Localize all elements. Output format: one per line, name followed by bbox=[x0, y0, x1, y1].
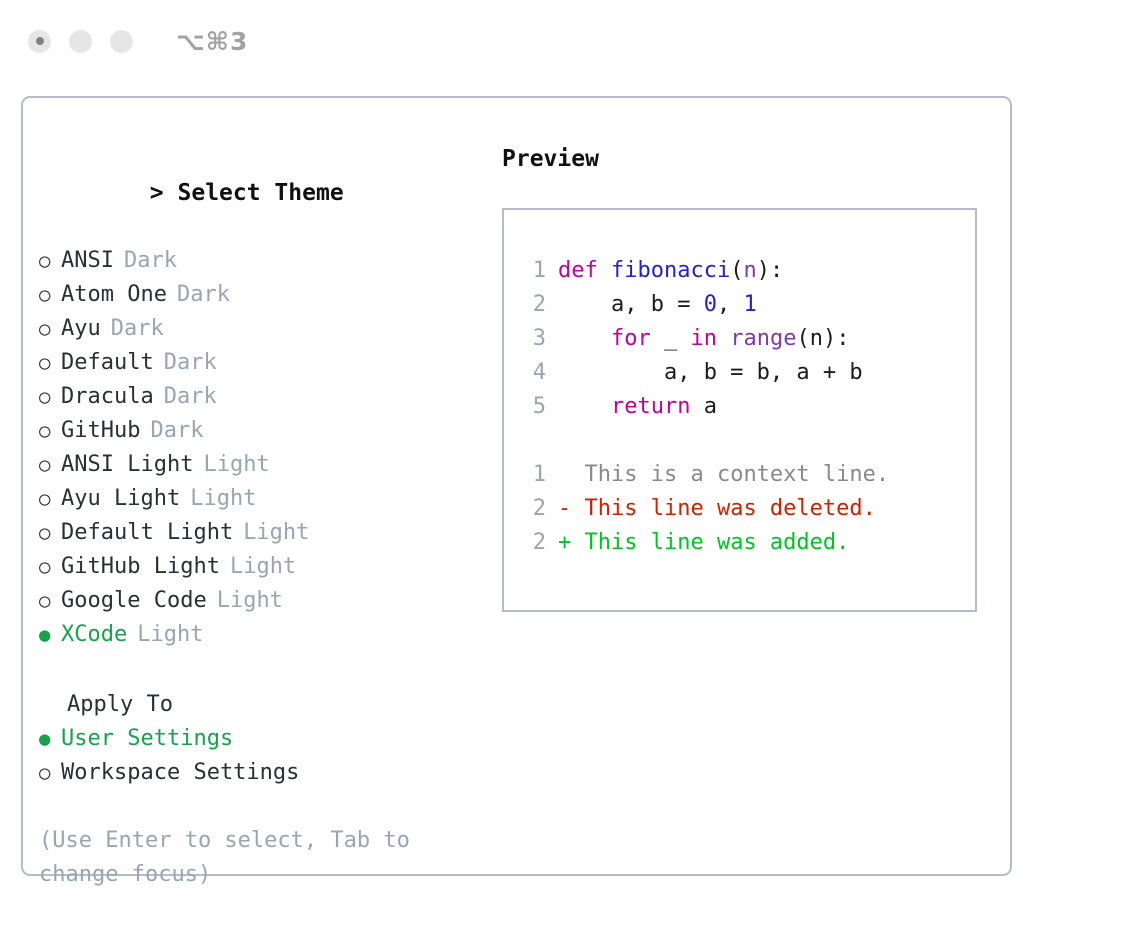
theme-option-dracula[interactable]: ○DraculaDark bbox=[39, 380, 479, 414]
apply-to-option-user-settings[interactable]: ●User Settings bbox=[39, 722, 479, 756]
theme-option-ayu-light[interactable]: ○Ayu LightLight bbox=[39, 482, 479, 516]
theme-option-label: ANSI bbox=[61, 244, 114, 278]
apply-to-option-label: Workspace Settings bbox=[61, 756, 299, 790]
line-number: 4 bbox=[522, 356, 546, 390]
maximize-window-button[interactable] bbox=[110, 30, 133, 53]
apply-to-option-workspace-settings[interactable]: ○Workspace Settings bbox=[39, 756, 479, 790]
radio-unselected-icon: ○ bbox=[39, 516, 61, 550]
radio-unselected-icon: ○ bbox=[39, 244, 61, 278]
line-number: 2 bbox=[522, 526, 546, 560]
theme-option-google-code[interactable]: ○Google CodeLight bbox=[39, 584, 479, 618]
select-theme-heading-label: Select Theme bbox=[178, 180, 344, 206]
preview-column: Preview 1def fibonacci(n):2 a, b = 0, 13… bbox=[502, 142, 992, 612]
code-line: 5 return a bbox=[522, 390, 975, 424]
theme-option-kind: Light bbox=[217, 584, 283, 618]
radio-selected-icon: ● bbox=[39, 618, 61, 652]
theme-option-default-light[interactable]: ○Default LightLight bbox=[39, 516, 479, 550]
theme-option-xcode[interactable]: ●XCodeLight bbox=[39, 618, 479, 652]
radio-unselected-icon: ○ bbox=[39, 346, 61, 380]
keyboard-hint-text: (Use Enter to select, Tab to change focu… bbox=[39, 824, 449, 892]
code-token-plain: a, b = b, a + b bbox=[558, 360, 863, 385]
code-line-content: def fibonacci(n): bbox=[558, 254, 783, 288]
theme-option-kind: Light bbox=[243, 516, 309, 550]
theme-option-kind: Dark bbox=[150, 414, 203, 448]
code-token-kw: in bbox=[690, 326, 730, 351]
line-number: 5 bbox=[522, 390, 546, 424]
theme-option-kind: Light bbox=[203, 448, 269, 482]
radio-unselected-icon: ○ bbox=[39, 448, 61, 482]
code-token-plain: a bbox=[704, 394, 717, 419]
code-token-plain: , bbox=[717, 292, 744, 317]
line-number: 3 bbox=[522, 322, 546, 356]
diff-sample-block: 1 This is a context line.2- This line wa… bbox=[522, 458, 975, 560]
code-line: 1def fibonacci(n): bbox=[522, 254, 975, 288]
diff-marker: - bbox=[558, 492, 585, 526]
select-theme-heading: > Select Theme bbox=[39, 142, 479, 244]
theme-option-kind: Light bbox=[230, 550, 296, 584]
theme-option-label: XCode bbox=[61, 618, 127, 652]
code-token-fn: fibonacci bbox=[611, 258, 730, 283]
diff-line-add: 2+ This line was added. bbox=[522, 526, 975, 560]
code-line: 4 a, b = b, a + b bbox=[522, 356, 975, 390]
diff-line-content: This line was added. bbox=[585, 526, 850, 560]
theme-option-kind: Dark bbox=[164, 346, 217, 380]
theme-option-label: ANSI Light bbox=[61, 448, 193, 482]
theme-option-kind: Dark bbox=[111, 312, 164, 346]
theme-option-label: Dracula bbox=[61, 380, 154, 414]
apply-to-heading: Apply To bbox=[39, 688, 479, 722]
code-token-kw: def bbox=[558, 258, 611, 283]
diff-line-del: 2- This line was deleted. bbox=[522, 492, 975, 526]
diff-marker bbox=[558, 458, 585, 492]
apply-to-option-label: User Settings bbox=[61, 722, 233, 756]
line-number: 1 bbox=[522, 458, 546, 492]
code-line-content: return a bbox=[558, 390, 717, 424]
radio-unselected-icon: ○ bbox=[39, 550, 61, 584]
theme-option-github[interactable]: ○GitHubDark bbox=[39, 414, 479, 448]
line-number: 2 bbox=[522, 288, 546, 322]
theme-option-label: Atom One bbox=[61, 278, 167, 312]
code-line-content: for _ in range(n): bbox=[558, 322, 849, 356]
preview-spacer bbox=[522, 424, 975, 458]
radio-unselected-icon: ○ bbox=[39, 756, 61, 790]
theme-option-label: Default Light bbox=[61, 516, 233, 550]
code-token-kw: return bbox=[611, 394, 704, 419]
code-line: 3 for _ in range(n): bbox=[522, 322, 975, 356]
close-window-button[interactable] bbox=[28, 30, 51, 53]
prompt-caret-icon: > bbox=[150, 180, 164, 206]
line-number: 1 bbox=[522, 254, 546, 288]
theme-option-ansi-light[interactable]: ○ANSI LightLight bbox=[39, 448, 479, 482]
radio-selected-icon: ● bbox=[39, 722, 61, 756]
traffic-lights bbox=[28, 30, 133, 53]
code-token-plain bbox=[558, 394, 611, 419]
radio-unselected-icon: ○ bbox=[39, 482, 61, 516]
code-token-plain bbox=[558, 326, 611, 351]
theme-option-label: GitHub Light bbox=[61, 550, 220, 584]
theme-option-kind: Light bbox=[137, 618, 203, 652]
code-line-content: a, b = 0, 1 bbox=[558, 288, 757, 322]
code-token-plain: ( bbox=[730, 258, 743, 283]
theme-option-list: ○ANSIDark○Atom OneDark○AyuDark○DefaultDa… bbox=[39, 244, 479, 652]
preview-heading: Preview bbox=[502, 142, 992, 176]
code-token-var: n bbox=[743, 258, 756, 283]
radio-unselected-icon: ○ bbox=[39, 584, 61, 618]
code-token-plain: ): bbox=[757, 258, 784, 283]
radio-unselected-icon: ○ bbox=[39, 414, 61, 448]
diff-line-ctx: 1 This is a context line. bbox=[522, 458, 975, 492]
line-number: 2 bbox=[522, 492, 546, 526]
theme-selector-panel: > Select Theme ○ANSIDark○Atom OneDark○Ay… bbox=[21, 96, 1012, 876]
code-token-num: 1 bbox=[743, 292, 756, 317]
code-line-content: a, b = b, a + b bbox=[558, 356, 863, 390]
theme-option-label: Default bbox=[61, 346, 154, 380]
minimize-window-button[interactable] bbox=[69, 30, 92, 53]
code-sample-block: 1def fibonacci(n):2 a, b = 0, 13 for _ i… bbox=[522, 254, 975, 424]
theme-list-column: > Select Theme ○ANSIDark○Atom OneDark○Ay… bbox=[39, 142, 479, 892]
code-token-plain: a, b = bbox=[558, 292, 704, 317]
code-token-num: 0 bbox=[704, 292, 717, 317]
diff-line-content: This line was deleted. bbox=[585, 492, 876, 526]
active-window-dot-icon bbox=[36, 37, 44, 45]
code-token-var: range bbox=[730, 326, 796, 351]
theme-option-label: GitHub bbox=[61, 414, 140, 448]
theme-option-atom-one[interactable]: ○Atom OneDark bbox=[39, 278, 479, 312]
theme-option-kind: Dark bbox=[124, 244, 177, 278]
theme-option-ayu[interactable]: ○AyuDark bbox=[39, 312, 479, 346]
code-token-plain: (n): bbox=[796, 326, 849, 351]
theme-option-kind: Dark bbox=[164, 380, 217, 414]
code-line: 2 a, b = 0, 1 bbox=[522, 288, 975, 322]
code-token-plain: _ bbox=[664, 326, 691, 351]
theme-option-kind: Dark bbox=[177, 278, 230, 312]
radio-unselected-icon: ○ bbox=[39, 312, 61, 346]
theme-option-ansi[interactable]: ○ANSIDark bbox=[39, 244, 479, 278]
diff-marker: + bbox=[558, 526, 585, 560]
theme-option-github-light[interactable]: ○GitHub LightLight bbox=[39, 550, 479, 584]
window-titlebar: ⌥⌘3 bbox=[0, 0, 1140, 82]
keyboard-shortcut-label: ⌥⌘3 bbox=[176, 27, 248, 56]
diff-line-content: This is a context line. bbox=[585, 458, 890, 492]
apply-to-option-list: ●User Settings○Workspace Settings bbox=[39, 722, 479, 790]
theme-option-label: Ayu bbox=[61, 312, 101, 346]
preview-box: 1def fibonacci(n):2 a, b = 0, 13 for _ i… bbox=[502, 208, 977, 612]
theme-option-label: Google Code bbox=[61, 584, 207, 618]
theme-option-default[interactable]: ○DefaultDark bbox=[39, 346, 479, 380]
radio-unselected-icon: ○ bbox=[39, 380, 61, 414]
theme-option-label: Ayu Light bbox=[61, 482, 180, 516]
theme-option-kind: Light bbox=[190, 482, 256, 516]
radio-unselected-icon: ○ bbox=[39, 278, 61, 312]
code-token-kw: for bbox=[611, 326, 664, 351]
